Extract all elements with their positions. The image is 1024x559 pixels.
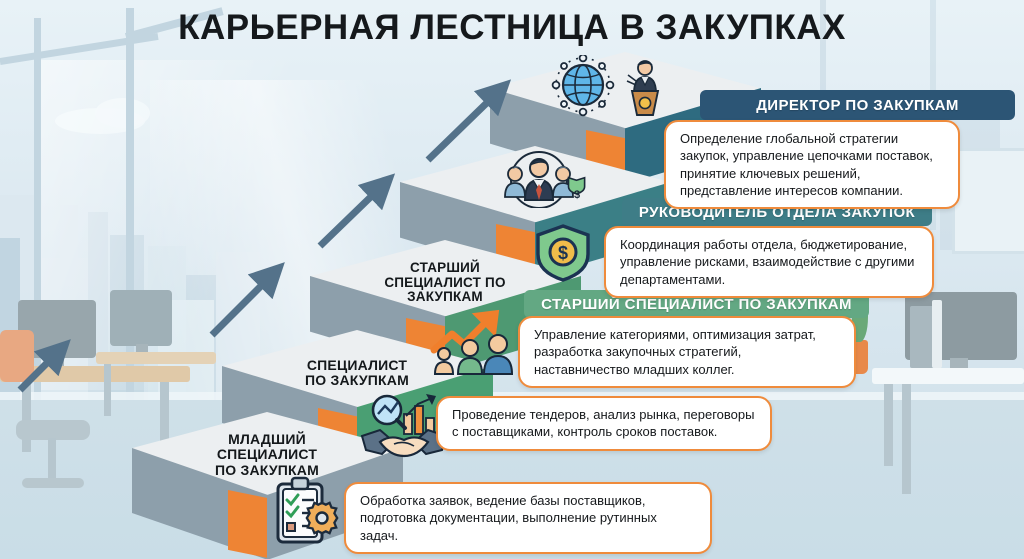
progression-arrow <box>212 275 272 335</box>
page-title: КАРЬЕРНАЯ ЛЕСТНИЦА В ЗАКУПКАХ <box>0 8 1024 48</box>
infographic-canvas: КАРЬЕРНАЯ ЛЕСТНИЦА В ЗАКУПКАХ <box>0 0 1024 559</box>
description-head-of-procurement: Координация работы отдела, бюджетировани… <box>604 226 934 298</box>
progression-arrow <box>428 92 498 160</box>
description-specialist: Проведение тендеров, анализ рынка, перег… <box>436 396 772 451</box>
description-procurement-director: Определение глобальной стратегии закупок… <box>664 120 960 209</box>
progression-arrow <box>20 352 58 390</box>
description-senior-specialist: Управление категориями, оптимизация затр… <box>518 316 856 388</box>
description-junior-specialist: Обработка заявок, ведение базы поставщик… <box>344 482 712 554</box>
progression-arrow <box>320 186 382 246</box>
bar-label-procurement-director[interactable]: ДИРЕКТОР ПО ЗАКУПКАМ <box>700 90 1015 120</box>
